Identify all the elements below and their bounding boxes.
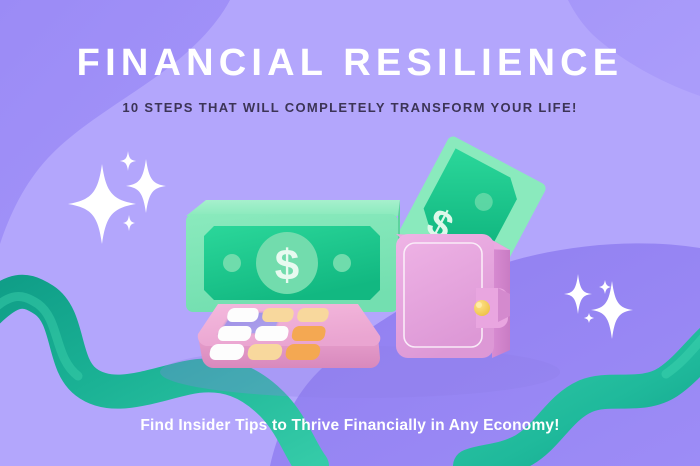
page-subtitle: 10 STEPS THAT WILL COMPLETELY TRANSFORM …	[0, 101, 700, 114]
poster-canvas: $ $	[0, 0, 700, 466]
footer-tagline: Find Insider Tips to Thrive Financially …	[0, 418, 700, 434]
page-title: FINANCIAL RESILIENCE	[0, 44, 700, 82]
text-layer: FINANCIAL RESILIENCE 10 STEPS THAT WILL …	[0, 0, 700, 466]
